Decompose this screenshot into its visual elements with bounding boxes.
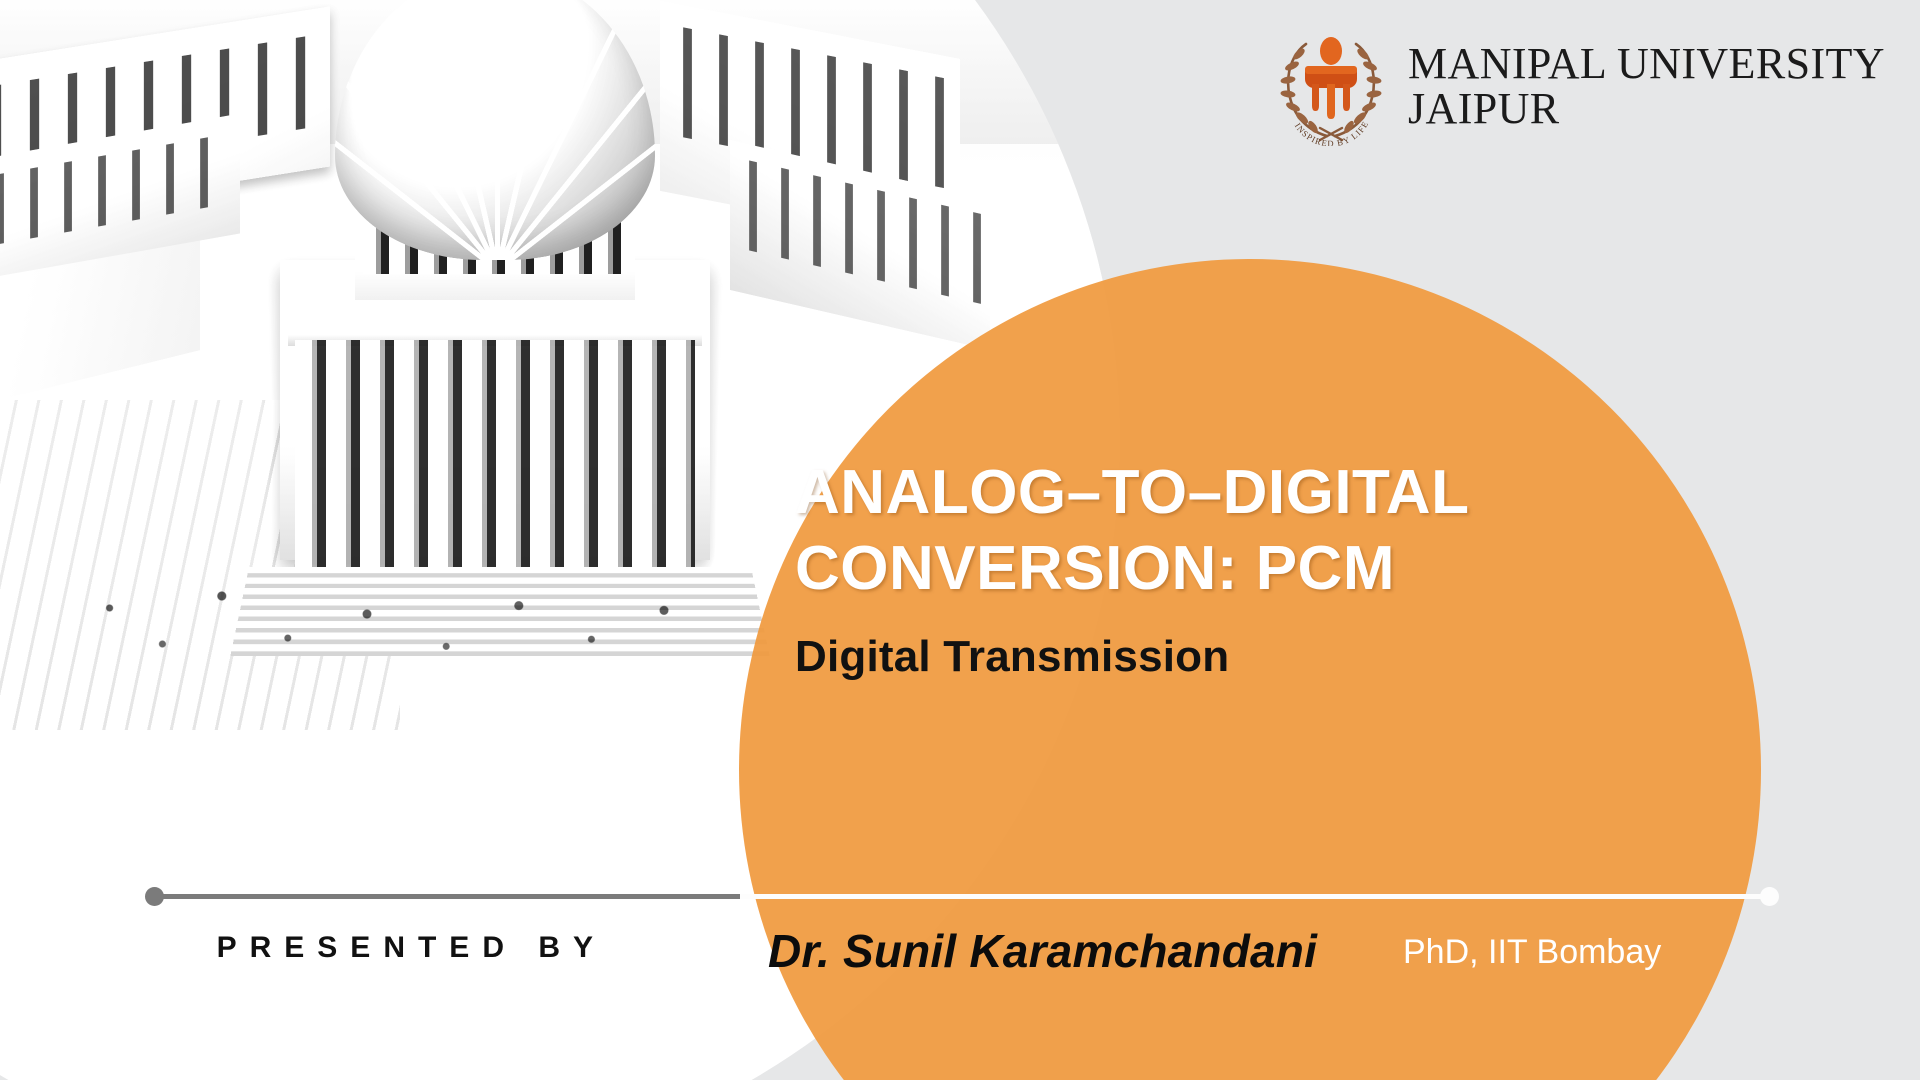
manipal-university-laurel-lamp-logo-icon: INSPIRED BY LIFE bbox=[1272, 28, 1390, 146]
title-slide: INSPIRED BY LIFE MANIPAL UNIVERSITY JAIP… bbox=[0, 0, 1920, 1080]
divider-dot-left-icon bbox=[145, 887, 164, 906]
divider-segment-white bbox=[740, 894, 1772, 899]
brand-name: MANIPAL UNIVERSITY JAIPUR bbox=[1408, 42, 1885, 132]
photo-dome-ribs bbox=[335, 0, 655, 260]
photo-colonnade bbox=[295, 340, 695, 570]
brand-logo-block: INSPIRED BY LIFE MANIPAL UNIVERSITY JAIP… bbox=[1272, 28, 1885, 146]
photo-crowd-flecks bbox=[70, 560, 730, 680]
page-subtitle: Digital Transmission bbox=[795, 632, 1695, 682]
page-title: ANALOG–TO–DIGITAL CONVERSION: PCM bbox=[795, 455, 1695, 606]
title-area: ANALOG–TO–DIGITAL CONVERSION: PCM Digita… bbox=[795, 455, 1695, 682]
divider-dot-right-icon bbox=[1760, 887, 1779, 906]
brand-name-line-2: JAIPUR bbox=[1408, 87, 1885, 132]
presenter-name: Dr. Sunil Karamchandani bbox=[768, 924, 1317, 978]
presenter-affiliation: PhD, IIT Bombay bbox=[1403, 933, 1661, 972]
divider-segment-grey bbox=[152, 894, 740, 899]
photo-dome bbox=[280, 0, 710, 300]
footer-divider bbox=[152, 894, 1772, 899]
presented-by-label: PRESENTED BY bbox=[176, 926, 606, 970]
brand-name-line-1: MANIPAL UNIVERSITY bbox=[1408, 42, 1885, 87]
